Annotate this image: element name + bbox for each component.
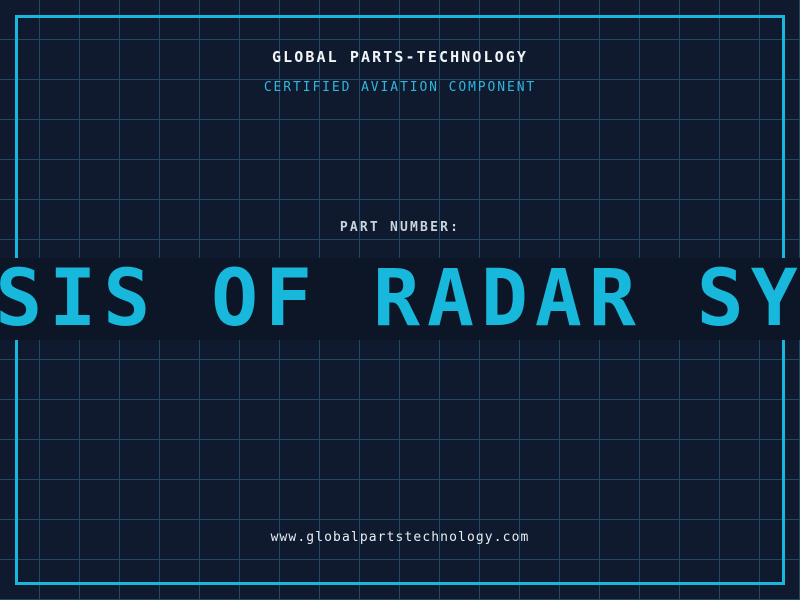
blueprint-title-card: GLOBAL PARTS-TECHNOLOGY CERTIFIED AVIATI… <box>0 0 800 600</box>
website-url: www.globalpartstechnology.com <box>0 530 800 545</box>
company-name: GLOBAL PARTS-TECHNOLOGY <box>0 48 800 66</box>
headline-title: ANALYSIS OF RADAR SYSTEMS <box>0 258 800 340</box>
part-number-label: PART NUMBER: <box>0 220 800 235</box>
headline-band: ANALYSIS OF RADAR SYSTEMS <box>0 258 800 340</box>
certification-label: CERTIFIED AVIATION COMPONENT <box>0 80 800 95</box>
